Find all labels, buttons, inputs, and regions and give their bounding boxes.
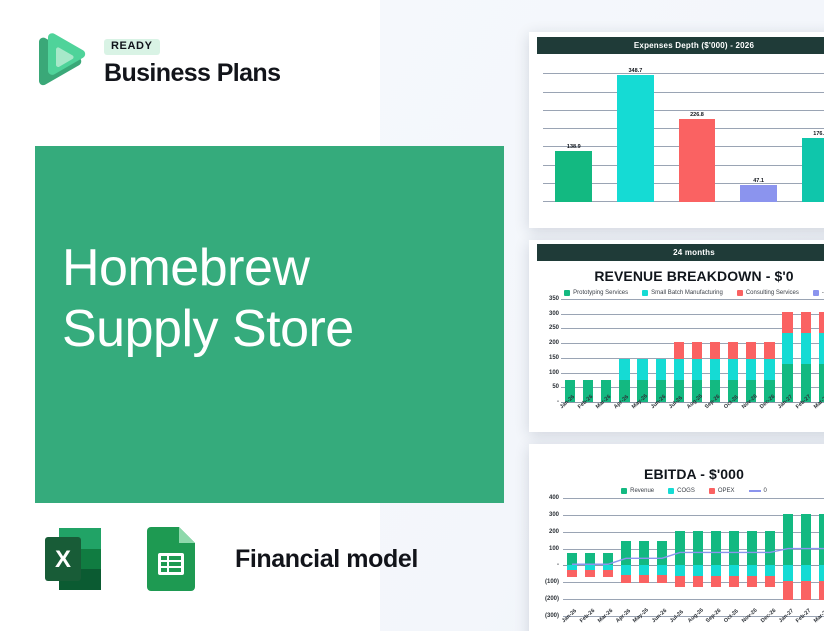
bar-segment (710, 359, 720, 380)
y-tick-label: 200 (549, 529, 559, 535)
play-triangle-logo-icon (28, 28, 90, 90)
legend-label: Revenue (630, 488, 654, 494)
bar-slot[interactable] (797, 299, 815, 402)
negative-stack (585, 565, 595, 576)
bar-segment (567, 553, 577, 566)
bar-value-label: 348.7 (628, 68, 642, 74)
bar-segment (674, 342, 684, 359)
bar-slot[interactable] (706, 299, 724, 402)
revenue-plot-area: 35030025020015010050- (537, 299, 824, 402)
revenue-breakdown-card: 24 months REVENUE BREAKDOWN - $'0 Protot… (529, 240, 824, 432)
bar-segment (621, 541, 631, 565)
bar-slot[interactable] (652, 299, 670, 402)
bar-value-label: 176.5 (813, 131, 824, 137)
bar[interactable]: 176.5 (802, 138, 824, 202)
bar-slot[interactable] (563, 498, 581, 616)
bar-segment (801, 312, 811, 333)
bar-segment (747, 565, 757, 575)
positive-stack (819, 514, 824, 565)
financial-model-label: Financial model (235, 545, 418, 574)
revenue-bars (561, 299, 824, 402)
legend-item[interactable]: Small Batch Manufacturing (642, 290, 723, 296)
positive-stack (674, 342, 684, 402)
bar-segment (711, 576, 721, 587)
positive-stack (675, 531, 685, 566)
bar-slot[interactable] (742, 299, 760, 402)
bar-slot[interactable] (760, 299, 778, 402)
bar-slot[interactable] (671, 498, 689, 616)
brand-lockup: READY Business Plans (28, 28, 280, 90)
file-format-row: X Financial model (33, 519, 418, 599)
bar-segment (656, 359, 666, 380)
legend-item[interactable]: Prototyping Services (564, 290, 628, 296)
negative-stack (711, 565, 721, 587)
bar-segment (801, 514, 811, 565)
positive-stack (747, 531, 757, 566)
legend-swatch (737, 290, 743, 296)
bar-slot[interactable] (581, 498, 599, 616)
bar-slot: 138.9 (543, 56, 605, 202)
legend-item[interactable]: 0 (749, 488, 767, 494)
bar-slot: 226.8 (666, 56, 728, 202)
ebitda-x-axis-labels: Jan-26Feb-26Mar-26Apr-26May-26Jun-26Jul-… (563, 616, 824, 625)
bar-segment (639, 565, 649, 574)
bar-slot[interactable] (597, 299, 615, 402)
negative-stack (693, 565, 703, 587)
bar-slot[interactable] (670, 299, 688, 402)
bar-segment (729, 576, 739, 587)
expenses-chart-card: Expenses Depth ($'000) - 2026 138.9348.7… (529, 32, 824, 228)
bar-slot[interactable] (599, 498, 617, 616)
bar-segment (746, 359, 756, 380)
positive-stack (603, 553, 613, 566)
legend-label: 0 (764, 488, 767, 494)
bar[interactable]: 348.7 (617, 75, 654, 202)
y-tick-label: 100 (549, 370, 559, 376)
bar-segment (782, 333, 792, 364)
positive-stack (819, 312, 824, 402)
bar-segment (819, 333, 824, 364)
bar-segment (729, 531, 739, 566)
bar-slot[interactable] (761, 498, 779, 616)
bar-segment (657, 541, 667, 565)
bar[interactable]: 47.1 (740, 185, 777, 202)
bar-segment (783, 581, 793, 600)
bar-segment (801, 565, 811, 581)
legend-swatch (813, 290, 819, 296)
bar[interactable]: 226.8 (679, 119, 716, 202)
negative-stack (747, 565, 757, 587)
positive-stack (782, 312, 792, 402)
bar-slot[interactable] (725, 498, 743, 616)
y-tick-label: 300 (549, 512, 559, 518)
y-tick-label: (200) (545, 596, 559, 602)
expenses-plot-area: 138.9348.7226.847.1176.5 (537, 56, 824, 202)
bar-segment (692, 359, 702, 380)
positive-stack (567, 553, 577, 566)
bar-slot: 176.5 (789, 56, 824, 202)
y-tick-label: 150 (549, 355, 559, 361)
google-sheets-icon (131, 519, 211, 599)
negative-stack (801, 565, 811, 600)
bar[interactable]: 138.9 (555, 151, 592, 202)
bar-segment (764, 342, 774, 359)
positive-stack (801, 514, 811, 565)
negative-stack (657, 565, 667, 582)
ebitda-bars (563, 498, 824, 616)
bar-segment (729, 565, 739, 575)
bar-segment (746, 342, 756, 359)
bar-slot[interactable] (635, 498, 653, 616)
bar-segment (657, 575, 667, 583)
bar-value-label: 47.1 (753, 178, 764, 184)
positive-stack (693, 531, 703, 566)
ebitda-legend: RevenueCOGSOPEX0 (529, 488, 824, 494)
positive-stack (764, 342, 774, 402)
negative-stack (783, 565, 793, 600)
bar-segment (728, 359, 738, 380)
bar-segment (619, 359, 629, 380)
bar-segment (783, 565, 793, 581)
expenses-chart-title: Expenses Depth ($'000) - 2026 (537, 37, 824, 54)
bar-slot[interactable] (561, 299, 579, 402)
legend-label: OPEX (718, 488, 735, 494)
bar-slot[interactable] (617, 498, 635, 616)
bar-segment (603, 553, 613, 566)
brand-title: Business Plans (104, 60, 280, 86)
bar-segment (674, 359, 684, 380)
bar-slot: 47.1 (728, 56, 790, 202)
bar-segment (711, 531, 721, 566)
bar-segment (637, 359, 647, 380)
y-tick-label: 50 (552, 384, 559, 390)
microsoft-excel-icon: X (33, 519, 113, 599)
negative-stack (675, 565, 685, 587)
bar-segment (783, 514, 793, 565)
bar-segment (639, 575, 649, 583)
legend-swatch (564, 290, 570, 296)
bar-segment (675, 576, 685, 587)
bar-segment (585, 553, 595, 566)
ready-badge: READY (104, 39, 160, 55)
y-tick-label: 250 (549, 325, 559, 331)
legend-swatch (749, 490, 761, 492)
bar-segment (765, 565, 775, 575)
y-tick-label: 400 (549, 495, 559, 501)
y-tick-label: - (557, 562, 559, 568)
brand-text-block: READY Business Plans (104, 32, 280, 86)
bar-segment (819, 565, 824, 581)
bar-slot: 348.7 (605, 56, 667, 202)
bar-slot[interactable] (688, 299, 706, 402)
negative-stack (567, 565, 577, 576)
positive-stack (729, 531, 739, 566)
negative-stack (765, 565, 775, 587)
y-tick-label: 100 (549, 546, 559, 552)
legend-swatch (642, 290, 648, 296)
bar-segment (728, 342, 738, 359)
revenue-legend: Prototyping ServicesSmall Batch Manufact… (529, 290, 824, 296)
positive-stack (801, 312, 811, 402)
revenue-x-axis-labels: Jan-26Feb-26Mar-26Apr-26May-26Jun-26Jul-… (561, 402, 824, 411)
positive-stack (692, 342, 702, 402)
y-tick-label: 300 (549, 311, 559, 317)
expenses-bars: 138.9348.7226.847.1176.5 (543, 56, 824, 202)
negative-stack (819, 565, 824, 600)
legend-label: COGS (677, 488, 695, 494)
ebitda-chart-title: EBITDA - $'000 (529, 466, 824, 482)
positive-stack (728, 342, 738, 402)
positive-stack (639, 541, 649, 565)
legend-swatch (621, 488, 627, 494)
bar-segment (692, 342, 702, 359)
bar-segment (819, 312, 824, 333)
bar-slot[interactable] (779, 498, 797, 616)
y-tick-label: 200 (549, 340, 559, 346)
bar-slot[interactable] (634, 299, 652, 402)
bar-segment (711, 565, 721, 575)
legend-label: Small Batch Manufacturing (651, 290, 723, 296)
bar-slot[interactable] (743, 498, 761, 616)
bar-segment (693, 531, 703, 566)
bar-segment (819, 514, 824, 565)
positive-stack (711, 531, 721, 566)
bar-segment (675, 531, 685, 566)
legend-item[interactable]: Consulting Services (737, 290, 799, 296)
bar-segment (764, 359, 774, 380)
negative-stack (729, 565, 739, 587)
bar-segment (567, 570, 577, 577)
legend-swatch (668, 488, 674, 494)
bar-segment (603, 570, 613, 577)
positive-stack (585, 553, 595, 566)
y-tick-label: 350 (549, 296, 559, 302)
legend-item[interactable]: OPEX (709, 488, 735, 494)
bar-slot[interactable] (779, 299, 797, 402)
legend-label: Prototyping Services (573, 290, 628, 296)
bar-slot[interactable] (724, 299, 742, 402)
bar-value-label: 226.8 (690, 112, 704, 118)
bar-slot[interactable] (707, 498, 725, 616)
bar-segment (801, 333, 811, 364)
y-tick-label: (300) (545, 613, 559, 619)
bar-segment (621, 575, 631, 583)
positive-stack (621, 541, 631, 565)
positive-stack (765, 531, 775, 566)
bar-slot[interactable] (653, 498, 671, 616)
svg-text:X: X (55, 546, 71, 573)
bar-segment (639, 541, 649, 565)
bar-segment (693, 576, 703, 587)
bar-segment (801, 581, 811, 600)
bar-slot[interactable] (815, 299, 824, 402)
bar-slot[interactable] (689, 498, 707, 616)
legend-item[interactable]: COGS (668, 488, 695, 494)
bar-segment (693, 565, 703, 575)
bar-segment (621, 565, 631, 574)
ebitda-chart-card: EBITDA - $'000 RevenueCOGSOPEX0 40030020… (529, 444, 824, 631)
legend-item[interactable]: - (813, 290, 824, 296)
bar-segment (765, 531, 775, 566)
bar-segment (747, 531, 757, 566)
negative-stack (621, 565, 631, 582)
revenue-y-axis-labels: 35030025020015010050- (537, 299, 561, 402)
positive-stack (783, 514, 793, 565)
bar-segment (675, 565, 685, 575)
bar-slot[interactable] (815, 498, 824, 616)
bar-segment (782, 312, 792, 333)
bar-segment (710, 342, 720, 359)
revenue-chart-title: REVENUE BREAKDOWN - $'0 (529, 268, 824, 284)
positive-stack (710, 342, 720, 402)
legend-item[interactable]: Revenue (621, 488, 654, 494)
negative-stack (603, 565, 613, 576)
bar-value-label: 138.9 (567, 144, 581, 150)
negative-stack (639, 565, 649, 582)
ebitda-y-axis-labels: 400300200100-(100)(200)(300) (537, 498, 561, 616)
positive-stack (657, 541, 667, 565)
legend-swatch (709, 488, 715, 494)
y-tick-label: - (557, 399, 559, 405)
hero-title-panel: Homebrew Supply Store (35, 146, 504, 503)
bar-segment (657, 565, 667, 574)
legend-label: Consulting Services (746, 290, 799, 296)
revenue-period-ribbon: 24 months (537, 244, 824, 261)
y-tick-label: (100) (545, 579, 559, 585)
bar-segment (819, 581, 824, 600)
page-title: Homebrew Supply Store (62, 238, 504, 360)
bar-slot[interactable] (615, 299, 633, 402)
bar-slot[interactable] (797, 498, 815, 616)
ebitda-plot-area: 400300200100-(100)(200)(300) (537, 498, 824, 616)
bar-segment (747, 576, 757, 587)
bar-segment (765, 576, 775, 587)
bar-slot[interactable] (579, 299, 597, 402)
bar-segment (585, 570, 595, 577)
